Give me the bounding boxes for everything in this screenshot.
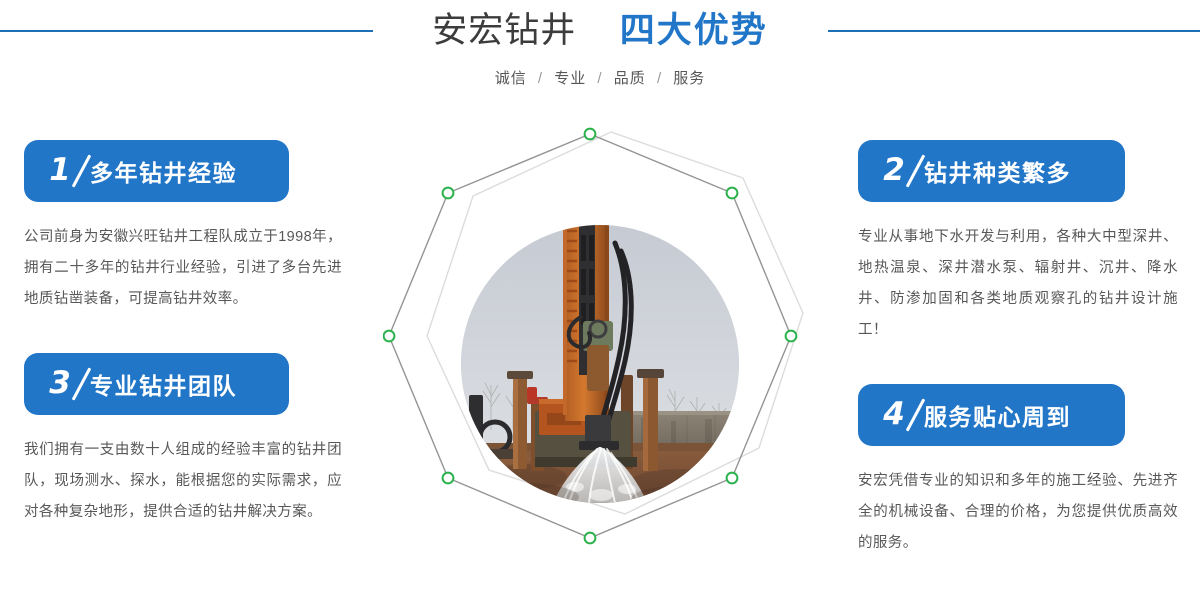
slash-icon	[72, 367, 92, 400]
polygon-node	[585, 129, 596, 140]
subtitle-item-1: 诚信	[495, 70, 527, 87]
feature-body-2: 专业从事地下水开发与利用，各种大中型深井、地热温泉、深井潜水泵、辐射井、沉井、降…	[858, 222, 1178, 346]
center-graphic	[383, 118, 817, 588]
title-accent: 四大优势	[620, 11, 768, 50]
feature-body-4: 安宏凭借专业的知识和多年的施工经验、先进齐全的机械设备、合理的价格，为您提供优质…	[858, 466, 1178, 559]
feature-card-1[interactable]: 1 多年钻井经验 公司前身为安徽兴旺钻井工程队成立于1998年，拥有二十多年的钻…	[24, 140, 354, 315]
feature-card-2[interactable]: 2 钻井种类繁多 专业从事地下水开发与利用，各种大中型深井、地热温泉、深井潜水泵…	[858, 140, 1188, 346]
page-title: 安宏钻井 四大优势	[0, 8, 1200, 54]
number-3-icon: 3	[42, 364, 82, 404]
advantages-banner: 安宏钻井 四大优势 诚信 / 专业 / 品质 / 服务 1 多年钻井经验 公司前…	[0, 0, 1200, 600]
subtitle-item-2: 专业	[554, 70, 586, 87]
feature-body-3: 我们拥有一支由数十人组成的经验丰富的钻井团队，现场测水、探水，能根据您的实际需求…	[24, 435, 342, 528]
drilling-rig-photo	[461, 225, 739, 503]
subtitle-separator-3: /	[651, 70, 668, 87]
feature-badge-4[interactable]: 4 服务贴心周到	[858, 384, 1125, 446]
feature-title-2: 钻井种类繁多	[924, 154, 1071, 188]
slash-icon	[906, 154, 926, 187]
number-2-icon: 2	[876, 151, 916, 191]
feature-title-1: 多年钻井经验	[90, 154, 237, 188]
number-4-icon: 4	[876, 395, 916, 435]
feature-badge-3[interactable]: 3 专业钻井团队	[24, 353, 289, 415]
photo-wrapper	[461, 170, 739, 558]
subtitle: 诚信 / 专业 / 品质 / 服务	[0, 67, 1200, 88]
subtitle-separator-1: /	[532, 70, 549, 87]
feature-title-3: 专业钻井团队	[90, 367, 237, 401]
polygon-node	[384, 331, 395, 342]
feature-title-4: 服务贴心周到	[924, 398, 1071, 432]
subtitle-separator-2: /	[591, 70, 608, 87]
polygon-node	[443, 473, 454, 484]
feature-card-3[interactable]: 3 专业钻井团队 我们拥有一支由数十人组成的经验丰富的钻井团队，现场测水、探水，…	[24, 353, 354, 528]
polygon-node	[443, 188, 454, 199]
feature-badge-1[interactable]: 1 多年钻井经验	[24, 140, 289, 202]
feature-card-4[interactable]: 4 服务贴心周到 安宏凭借专业的知识和多年的施工经验、先进齐全的机械设备、合理的…	[858, 384, 1188, 559]
subtitle-item-3: 品质	[614, 70, 646, 87]
feature-badge-2[interactable]: 2 钻井种类繁多	[858, 140, 1125, 202]
number-1-icon: 1	[42, 151, 82, 191]
header: 安宏钻井 四大优势 诚信 / 专业 / 品质 / 服务	[0, 8, 1200, 88]
drilling-rig-illustration	[461, 225, 739, 503]
slash-icon	[906, 398, 926, 431]
slash-icon	[72, 154, 92, 187]
feature-column-right: 2 钻井种类繁多 专业从事地下水开发与利用，各种大中型深井、地热温泉、深井潜水泵…	[858, 140, 1188, 559]
subtitle-item-4: 服务	[673, 70, 705, 87]
feature-column-left: 1 多年钻井经验 公司前身为安徽兴旺钻井工程队成立于1998年，拥有二十多年的钻…	[24, 140, 354, 528]
feature-body-1: 公司前身为安徽兴旺钻井工程队成立于1998年，拥有二十多年的钻井行业经验，引进了…	[24, 222, 342, 315]
polygon-node	[786, 331, 797, 342]
title-brand: 安宏钻井	[432, 11, 576, 50]
